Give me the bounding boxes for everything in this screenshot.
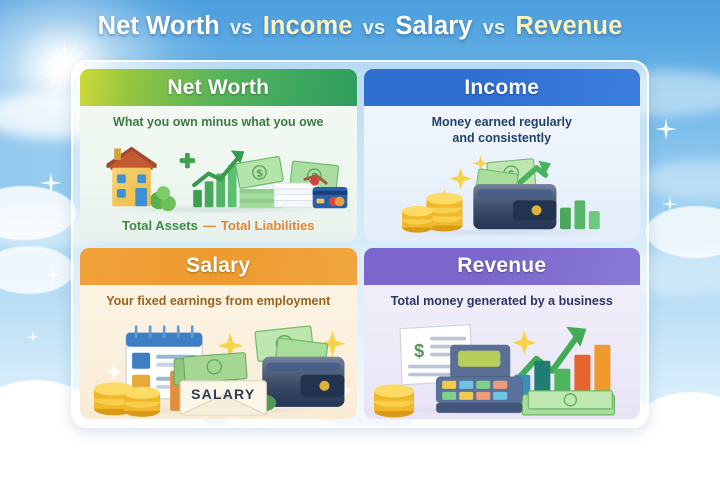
plus-icon	[180, 152, 195, 167]
title-separator: vs	[360, 17, 388, 39]
bush-icon	[150, 186, 176, 211]
card-header-income: Income	[364, 69, 641, 106]
sparkle-icon	[40, 172, 62, 194]
card-subtitle-income: Money earned regularly and consistently	[364, 106, 641, 150]
coin-stack-icon	[402, 193, 462, 233]
credit-card-icon	[313, 187, 348, 208]
sparkle-icon	[662, 196, 678, 212]
card-subtitle-revenue: Total money generated by a business	[364, 285, 641, 314]
card-header-revenue: Revenue	[364, 248, 641, 285]
card-header-salary: Salary	[80, 248, 357, 285]
title-separator: vs	[227, 17, 255, 39]
title-separator: vs	[480, 17, 508, 39]
house-icon	[106, 146, 156, 206]
card-header-net-worth: Net Worth	[80, 69, 357, 106]
growth-chart-icon	[193, 150, 244, 207]
coin-stack-icon	[374, 384, 414, 417]
banknote-icon	[522, 391, 614, 415]
card-subtitle-income-line2: and consistently	[376, 131, 629, 147]
cloud-wisp	[640, 160, 720, 200]
card-revenue[interactable]: Revenue Total money generated by a busin…	[364, 248, 641, 420]
wallet-icon	[473, 184, 556, 229]
card-salary[interactable]: Salary Your fixed earnings from employme…	[80, 248, 357, 420]
coin-stack-icon	[94, 382, 160, 417]
card-subtitle-net-worth: What you own minus what you owe	[80, 106, 357, 135]
card-subtitle-salary: Your fixed earnings from employment	[80, 285, 357, 314]
cloud-puff	[0, 246, 74, 294]
card-title-salary: Salary	[186, 254, 250, 278]
card-title-income: Income	[464, 76, 539, 100]
formula-minus-operator: —	[198, 218, 221, 233]
title-part-income: Income	[263, 12, 353, 40]
page-title: Net Worth vs Income vs Salary vs Revenue	[0, 12, 720, 41]
sparkle-icon	[44, 266, 62, 284]
salary-envelope-icon: SALARY	[180, 381, 266, 415]
card-illustration-net-worth: $ $	[80, 135, 357, 218]
title-part-revenue: Revenue	[515, 12, 622, 40]
formula-total-liabilities: Total Liabilities	[221, 218, 315, 233]
cloud-puff	[186, 424, 306, 480]
card-subtitle-income-line1: Money earned regularly	[376, 115, 629, 131]
comparison-board: Net Worth What you own minus what you ow…	[71, 60, 649, 428]
card-illustration-income: $	[364, 150, 641, 240]
card-title-net-worth: Net Worth	[167, 76, 269, 100]
title-part-salary: Salary	[395, 12, 472, 40]
cloud-wisp	[250, 452, 500, 480]
sparkle-icon	[655, 118, 677, 140]
cloud-puff	[326, 428, 444, 480]
card-income[interactable]: Income Money earned regularly and consis…	[364, 69, 641, 241]
cloud-bank	[0, 428, 720, 480]
sparkle-icon	[512, 331, 536, 355]
card-illustration-salary: $	[80, 313, 357, 419]
sparkle-icon	[26, 330, 40, 344]
card-formula-net-worth: Total Assets—Total Liabilities	[80, 218, 357, 241]
card-net-worth[interactable]: Net Worth What you own minus what you ow…	[80, 69, 357, 241]
title-part-net-worth: Net Worth	[98, 12, 220, 40]
cloud-puff	[660, 396, 720, 440]
receipt-dollar-sign: $	[414, 341, 424, 361]
cloud-puff	[0, 186, 76, 240]
card-illustration-revenue: $	[364, 313, 641, 419]
bar-chart-icon	[560, 201, 600, 230]
cloud-puff	[646, 206, 720, 258]
formula-total-assets: Total Assets	[122, 218, 198, 233]
envelope-label: SALARY	[191, 386, 255, 402]
card-title-revenue: Revenue	[457, 254, 546, 278]
